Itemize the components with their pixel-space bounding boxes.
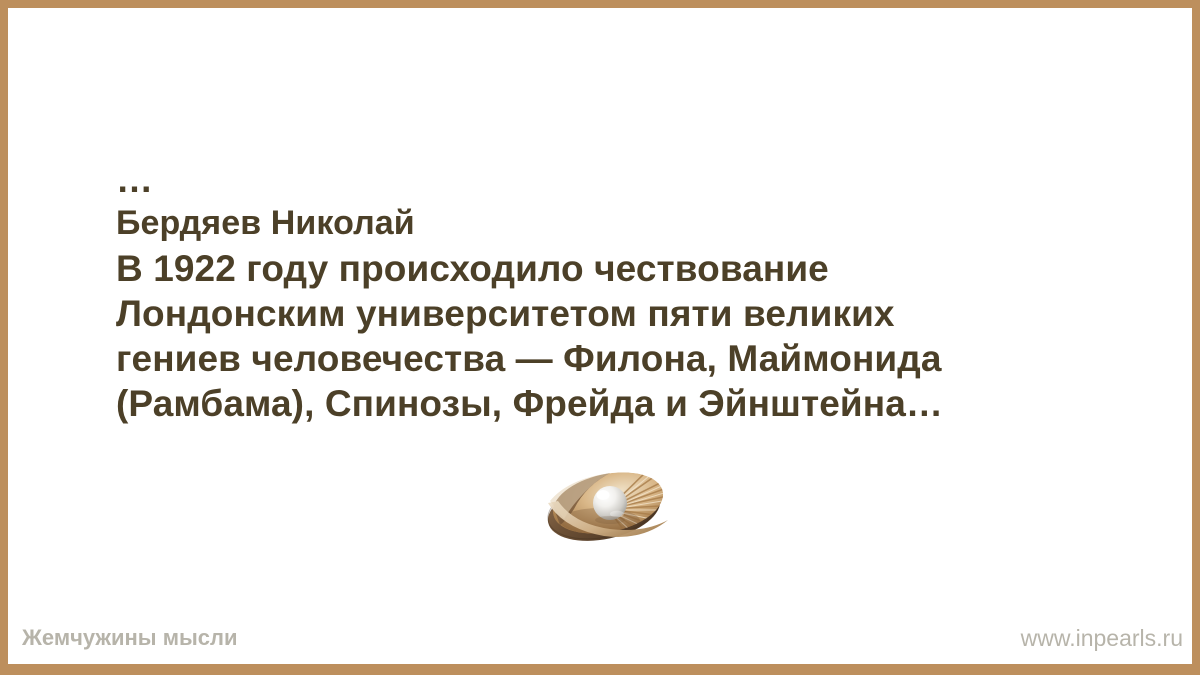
quote-author: Бердяев Николай: [116, 200, 1116, 246]
oyster-shell-with-pearl-icon: [538, 463, 678, 548]
quote-line-3: гениев человечества — Филона, Маймонида: [116, 336, 1116, 381]
quote-card: … Бердяев Николай В 1922 году происходил…: [0, 0, 1200, 675]
quote-line-1: В 1922 году происходило чествование: [116, 246, 1116, 291]
quote-line-2: Лондонским университетом пяти великих: [116, 291, 1116, 336]
quote-text-block: … Бердяев Николай В 1922 году происходил…: [116, 160, 1116, 426]
site-url-link[interactable]: www.inpearls.ru: [1021, 625, 1183, 651]
site-name-label: Жемчужины мысли: [22, 625, 238, 651]
quote-leading-ellipsis: …: [116, 160, 1116, 200]
quote-line-4: (Рамбама), Спинозы, Фрейда и Эйнштейна…: [116, 381, 1116, 426]
